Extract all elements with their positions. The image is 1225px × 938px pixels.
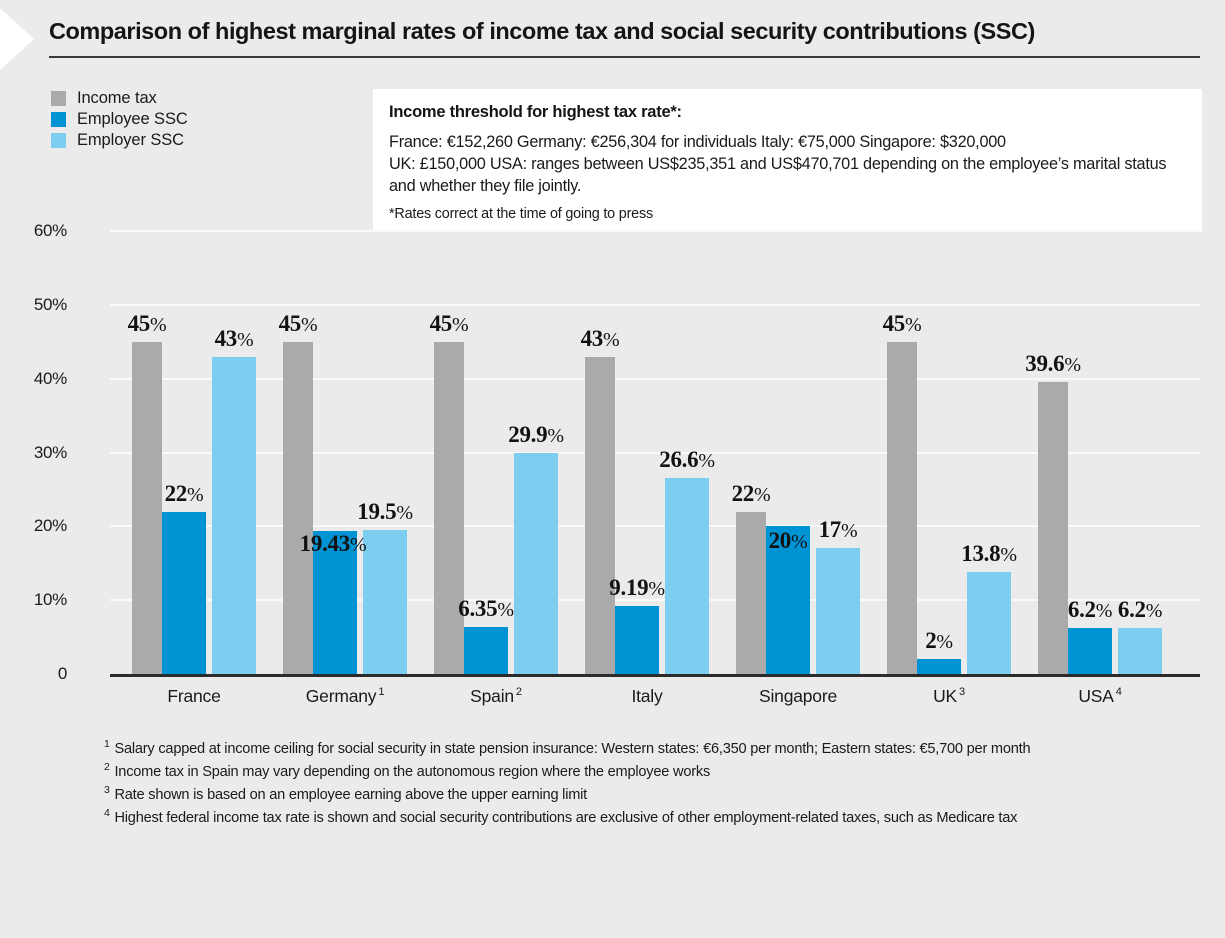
legend-label-income-tax: Income tax [77, 90, 157, 107]
legend-item-employee-ssc: Employee SSC [51, 109, 351, 130]
legend-item-income-tax: Income tax [51, 88, 351, 109]
info-box-heading: Income threshold for highest tax rate*: [389, 103, 1186, 122]
x-axis-label-france: France [167, 686, 220, 707]
bar-value-label: 22% [732, 482, 771, 505]
x-axis-label-italy: Italy [631, 686, 662, 707]
footnote-1: 1 Salary capped at income ceiling for so… [104, 737, 1104, 760]
bar-value-label: 2% [925, 629, 953, 652]
footnote-3: 3 Rate shown is based on an employee ear… [104, 783, 1104, 806]
y-axis-tick-label: 60% [34, 221, 67, 241]
info-box: Income threshold for highest tax rate*: … [373, 89, 1202, 232]
y-axis-tick-label: 10% [34, 590, 67, 610]
bar-value-label: 22% [165, 482, 204, 505]
info-box-line-1: France: €152,260 Germany: €256,304 for i… [389, 131, 1186, 153]
bar-spain-income-tax[interactable] [434, 342, 464, 674]
chevron-decoration-icon [0, 8, 34, 70]
gridline [110, 378, 1200, 380]
footnote-4: 4 Highest federal income tax rate is sho… [104, 806, 1104, 829]
bar-germany-employer-ssc[interactable] [363, 530, 407, 674]
bar-value-label: 45% [279, 312, 318, 335]
bar-value-label: 6.2% [1068, 598, 1112, 621]
bar-group: 45%19.43%19.5% [283, 231, 407, 674]
x-axis-label-usa: USA4 [1078, 686, 1121, 707]
x-axis-label-germany: Germany1 [306, 686, 385, 707]
info-box-note: *Rates correct at the time of going to p… [389, 206, 1186, 222]
bar-spain-employee-ssc[interactable] [464, 627, 508, 674]
bar-france-income-tax[interactable] [132, 342, 162, 674]
chart-legend: Income tax Employee SSC Employer SSC [51, 88, 351, 151]
bar-value-label: 17% [819, 518, 858, 541]
gridline [110, 452, 1200, 454]
title-divider [49, 56, 1200, 58]
bar-spain-employer-ssc[interactable] [514, 453, 558, 674]
page-title: Comparison of highest marginal rates of … [49, 18, 1200, 45]
bar-value-label: 39.6% [1025, 352, 1080, 375]
bar-value-label: 29.9% [508, 423, 563, 446]
bar-usa-income-tax[interactable] [1038, 382, 1068, 674]
bar-value-label: 13.8% [961, 542, 1016, 565]
bar-value-label: 9.19% [609, 576, 664, 599]
y-axis-tick-label: 50% [34, 295, 67, 315]
chart-plot-area: 010%20%30%40%50%60%45%22%43%45%19.43%19.… [110, 231, 1200, 674]
legend-label-employer-ssc: Employer SSC [77, 132, 184, 149]
x-axis-label-uk: UK3 [933, 686, 965, 707]
gridline [110, 599, 1200, 601]
bar-singapore-employer-ssc[interactable] [816, 548, 860, 674]
bar-group: 45%6.35%29.9% [434, 231, 558, 674]
bar-uk-employer-ssc[interactable] [967, 572, 1011, 674]
bar-group: 43%9.19%26.6% [585, 231, 709, 674]
bar-germany-employee-ssc[interactable] [313, 531, 357, 674]
bar-value-label: 6.35% [458, 597, 513, 620]
y-axis-tick-label: 20% [34, 516, 67, 536]
bar-france-employer-ssc[interactable] [212, 357, 256, 674]
bar-value-label: 20% [769, 529, 808, 552]
bar-value-label: 45% [430, 312, 469, 335]
bar-value-label: 19.43% [300, 532, 367, 555]
legend-item-employer-ssc: Employer SSC [51, 130, 351, 151]
y-axis-tick-label: 0 [58, 664, 67, 684]
bar-france-employee-ssc[interactable] [162, 512, 206, 674]
bar-value-label: 6.2% [1118, 598, 1162, 621]
bar-group: 45%22%43% [132, 231, 256, 674]
bar-value-label: 19.5% [357, 500, 412, 523]
x-axis-line [110, 674, 1200, 677]
y-axis-tick-label: 40% [34, 369, 67, 389]
bar-value-label: 26.6% [659, 448, 714, 471]
bar-uk-income-tax[interactable] [887, 342, 917, 674]
header: Comparison of highest marginal rates of … [49, 18, 1200, 58]
bar-singapore-employee-ssc[interactable] [766, 526, 810, 674]
bar-group: 39.6%6.2%6.2% [1038, 231, 1162, 674]
bar-germany-income-tax[interactable] [283, 342, 313, 674]
info-box-line-2: UK: £150,000 USA: ranges between US$235,… [389, 153, 1186, 197]
bar-usa-employee-ssc[interactable] [1068, 628, 1112, 674]
bar-value-label: 43% [581, 327, 620, 350]
bar-italy-employee-ssc[interactable] [615, 606, 659, 674]
legend-swatch-employee-ssc [51, 112, 66, 127]
footnotes: 1 Salary capped at income ceiling for so… [104, 737, 1104, 828]
gridline [110, 525, 1200, 527]
legend-swatch-employer-ssc [51, 133, 66, 148]
bar-value-label: 45% [128, 312, 167, 335]
bar-italy-employer-ssc[interactable] [665, 478, 709, 674]
legend-swatch-income-tax [51, 91, 66, 106]
bar-italy-income-tax[interactable] [585, 357, 615, 674]
bar-value-label: 45% [883, 312, 922, 335]
footnote-2: 2 Income tax in Spain may vary depending… [104, 760, 1104, 783]
bar-group: 45%2%13.8% [887, 231, 1011, 674]
x-axis-label-spain: Spain2 [470, 686, 522, 707]
bar-value-label: 43% [215, 327, 254, 350]
bar-group: 22%20%17% [736, 231, 860, 674]
gridline [110, 304, 1200, 306]
x-axis-label-singapore: Singapore [759, 686, 837, 707]
y-axis-tick-label: 30% [34, 443, 67, 463]
bar-usa-employer-ssc[interactable] [1118, 628, 1162, 674]
legend-label-employee-ssc: Employee SSC [77, 111, 188, 128]
bar-singapore-income-tax[interactable] [736, 512, 766, 674]
bar-uk-employee-ssc[interactable] [917, 659, 961, 674]
